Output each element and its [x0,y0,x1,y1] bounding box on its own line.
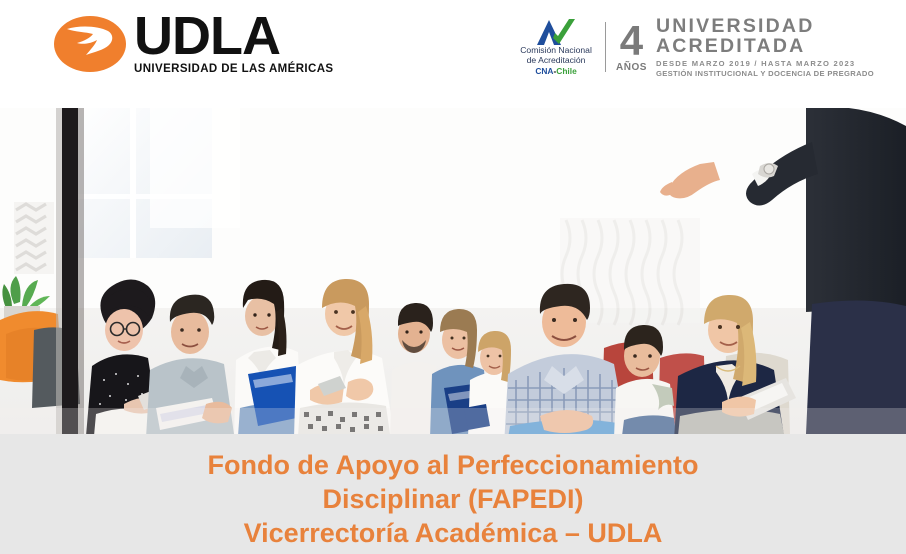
cna-line-2: de Acreditación [527,56,586,66]
accreditation-headline-1: UNIVERSIDAD [656,16,874,36]
slide-header: UDLA UNIVERSIDAD DE LAS AMÉRICAS Comisió… [0,0,906,108]
years-label: AÑOS [616,62,647,73]
badge-divider [605,22,606,72]
title-line-1: Fondo de Apoyo al Perfeccionamiento [207,448,698,482]
accreditation-text-block: UNIVERSIDAD ACREDITADA DESDE MARZO 2019 … [656,16,874,78]
title-band: Fondo de Apoyo al Perfeccionamiento Disc… [0,434,906,554]
cna-chile-logo: Comisión Nacional de Acreditación CNA-Ch… [513,18,599,76]
years-block: 4 AÑOS [616,22,647,73]
udla-wordmark: UDLA [134,12,280,60]
udla-logo: UDLA UNIVERSIDAD DE LAS AMÉRICAS [54,12,334,75]
classroom-audience-photo [0,108,906,434]
udla-bird-swoosh-icon [64,24,116,64]
cna-line-3: CNA-Chile [535,66,576,76]
udla-tagline: UNIVERSIDAD DE LAS AMÉRICAS [134,63,334,75]
cna-chile-peak-check-icon [533,18,579,46]
accreditation-detail-1: DESDE MARZO 2019 / HASTA MARZO 2023 [656,59,874,68]
title-line-3: Vicerrectoría Académica – UDLA [244,516,663,550]
accreditation-headline-2: ACREDITADA [656,36,874,56]
presentation-slide: UDLA UNIVERSIDAD DE LAS AMÉRICAS Comisió… [0,0,906,554]
udla-wordmark-block: UDLA UNIVERSIDAD DE LAS AMÉRICAS [134,12,334,75]
photo-illustration [0,108,906,434]
accreditation-badge: Comisión Nacional de Acreditación CNA-Ch… [513,16,874,78]
udla-bird-oval-icon [54,16,126,72]
years-number: 4 [620,22,643,60]
accreditation-detail-2: GESTIÓN INSTITUCIONAL Y DOCENCIA DE PREG… [656,69,874,78]
cna-green-text: Chile [556,66,576,76]
cna-blue-text: CNA [535,66,553,76]
title-line-2: Disciplinar (FAPEDI) [322,482,583,516]
